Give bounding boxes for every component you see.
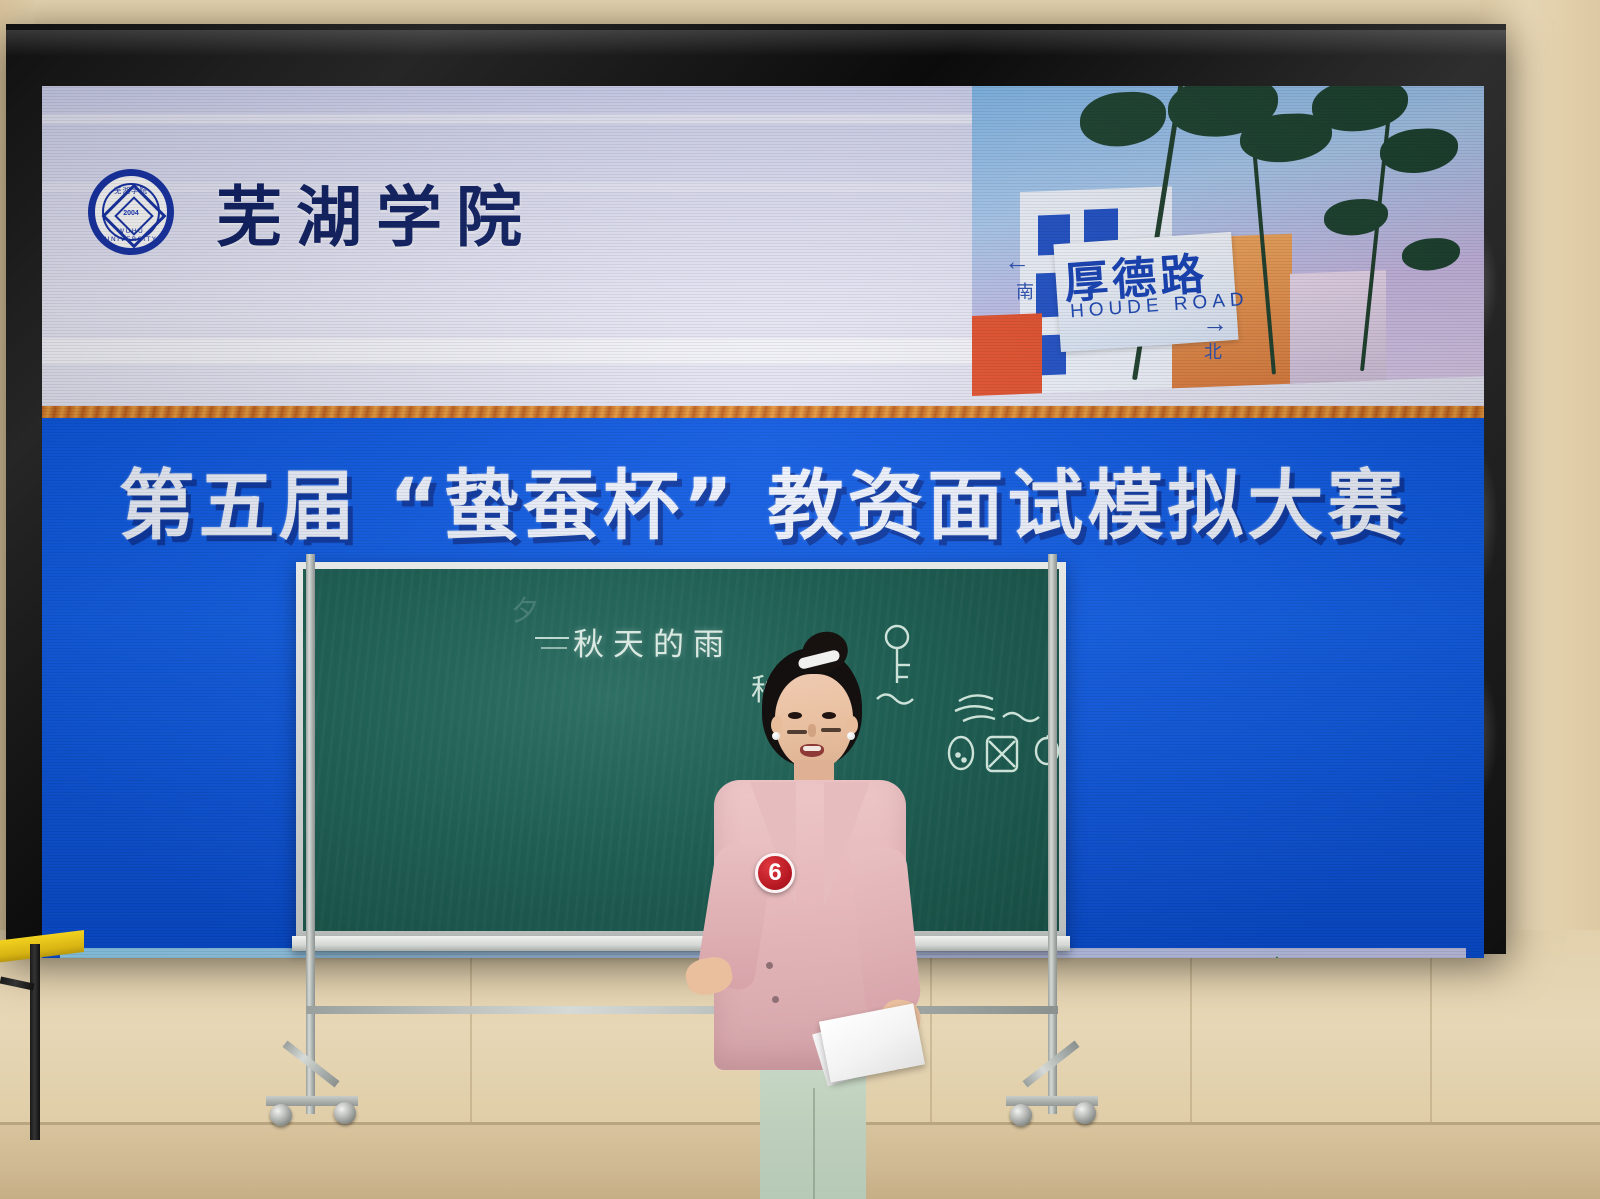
road-sign-arrow-left-icon: ←	[1004, 246, 1030, 277]
competition-title-line1: 第五届 “蛰蚕杯” 教资面试模拟大赛	[42, 444, 1484, 554]
university-name: 芜湖学院	[216, 164, 536, 260]
blackboard-caster	[1074, 1102, 1096, 1124]
blackboard-caster	[334, 1102, 356, 1124]
road-sign-direction-south: 南	[1016, 278, 1034, 304]
road-sign-direction-north: 北	[1204, 338, 1222, 364]
blackboard-caster	[1010, 1104, 1032, 1126]
table-leg	[30, 944, 40, 1140]
blackboard-leg-right	[1048, 554, 1057, 1114]
presenter-earring	[772, 732, 780, 740]
road-sign-arrow-right-icon: →	[1202, 308, 1228, 339]
contestant-number-badge: 6	[755, 853, 795, 893]
chalk-smudge: 夕	[511, 589, 539, 629]
slide-header: 厚德路 HOUDE ROAD ← 南 → 北 芜湖学院 2004 WUHU UN…	[42, 86, 1484, 406]
emblem-year: 2004	[123, 210, 139, 217]
blackboard-caster	[270, 1104, 292, 1126]
contestant-presenter: 6	[676, 640, 944, 1199]
screenshot-root: 厚德路 HOUDE ROAD ← 南 → 北 芜湖学院 2004 WUHU UN…	[0, 0, 1600, 1199]
pine-tree-icon	[1182, 956, 1372, 958]
wuhu-university-emblem-icon: 芜湖学院 2004 WUHU UNIVERSITY	[88, 169, 174, 255]
emblem-arc-bottom: WUHU UNIVERSITY	[95, 227, 167, 243]
panel-seam	[1430, 932, 1432, 1132]
university-logo-lockup: 芜湖学院 2004 WUHU UNIVERSITY 芜湖学院	[88, 164, 536, 260]
slide-gold-divider	[42, 406, 1484, 418]
blackboard-leg-left	[306, 554, 315, 1114]
presenter-earring	[847, 732, 855, 740]
presenter-mouth	[800, 744, 824, 757]
panel-seam	[1190, 932, 1192, 1132]
